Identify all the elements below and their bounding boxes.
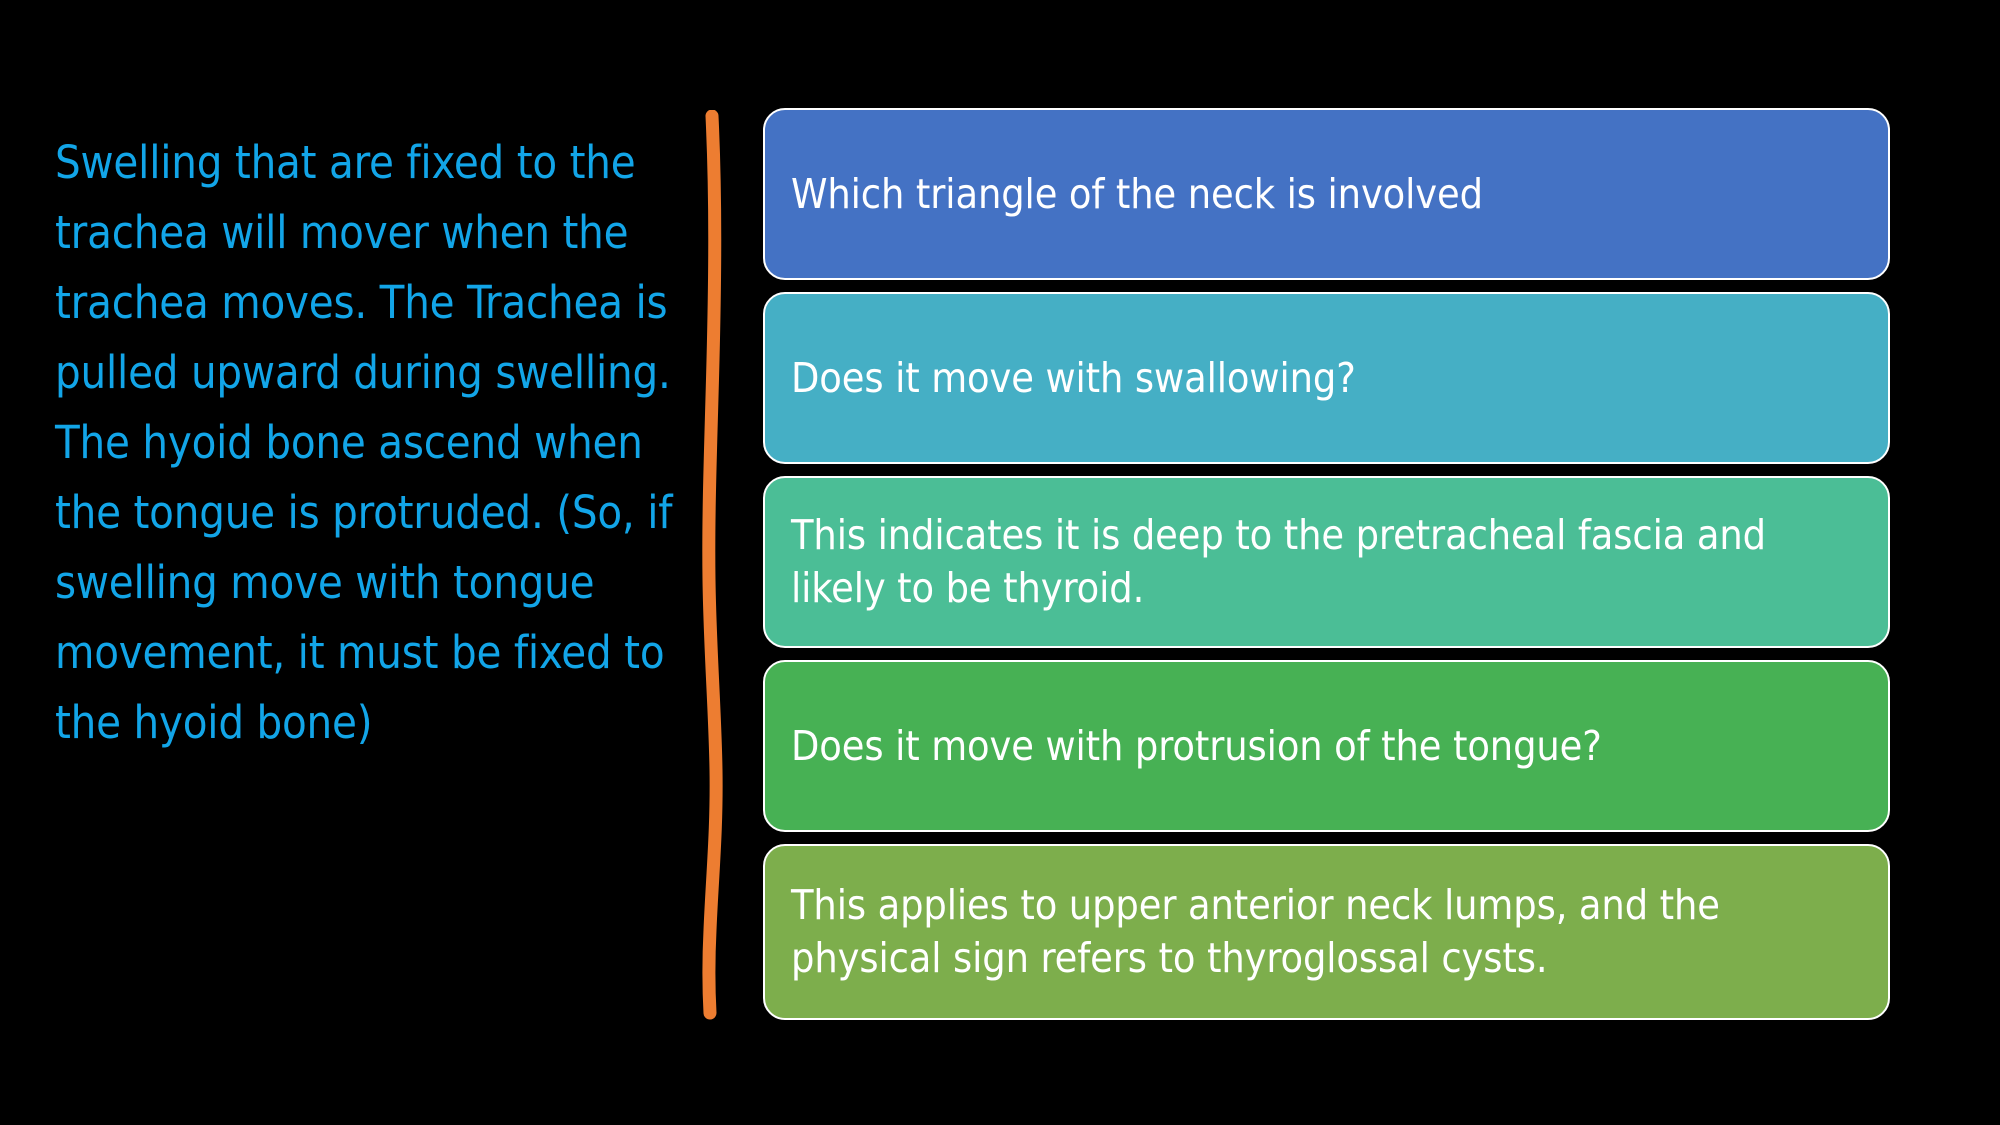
flow-step-3-label: This indicates it is deep to the pretrac… (791, 509, 1862, 615)
orange-divider-line (690, 110, 740, 1020)
flow-step-4[interactable]: Does it move with protrusion of the tong… (763, 660, 1890, 832)
flow-step-5-label: This applies to upper anterior neck lump… (791, 879, 1862, 985)
flow-step-5[interactable]: This applies to upper anterior neck lump… (763, 844, 1890, 1020)
flow-step-3[interactable]: This indicates it is deep to the pretrac… (763, 476, 1890, 648)
flow-step-list: Which triangle of the neck is involved D… (763, 108, 1890, 1020)
flow-step-1[interactable]: Which triangle of the neck is involved (763, 108, 1890, 280)
flow-step-2-label: Does it move with swallowing? (791, 352, 1862, 405)
explanatory-note-text: Swelling that are fixed to the trachea w… (55, 128, 675, 758)
flow-step-4-label: Does it move with protrusion of the tong… (791, 720, 1862, 773)
slide-canvas: Swelling that are fixed to the trachea w… (0, 0, 2000, 1125)
flow-step-1-label: Which triangle of the neck is involved (791, 168, 1862, 221)
flow-step-2[interactable]: Does it move with swallowing? (763, 292, 1890, 464)
